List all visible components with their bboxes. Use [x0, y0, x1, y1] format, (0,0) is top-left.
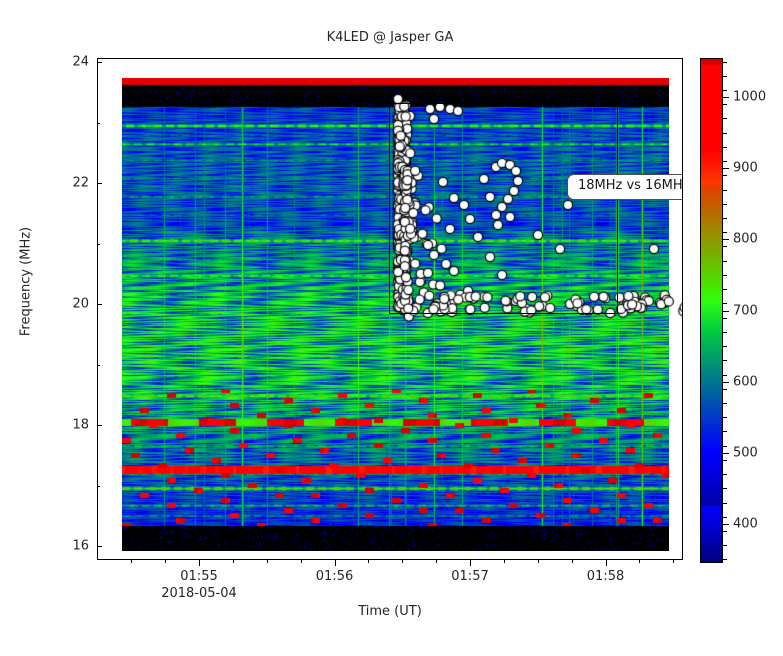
y-tick-label: 20 — [72, 297, 89, 312]
x-tick-minor — [267, 560, 268, 563]
colorbar-tick-minor — [723, 318, 727, 319]
y-tick-minor — [97, 244, 100, 245]
x-tick-minor — [538, 560, 539, 563]
colorbar-tick-major — [723, 97, 729, 98]
y-tick-label: 16 — [72, 539, 89, 554]
colorbar-tick-major — [723, 311, 729, 312]
colorbar-tick-minor — [723, 76, 727, 77]
annotation-label: 18MHz vs 16MHz — [567, 174, 683, 200]
x-tick-minor — [301, 560, 302, 563]
colorbar-tick-minor — [723, 118, 727, 119]
x-axis-ticks — [97, 560, 683, 568]
colorbar-tick-minor — [723, 446, 727, 447]
y-tick-major — [97, 304, 102, 305]
y-tick-major — [97, 183, 102, 184]
colorbar-tick-minor — [723, 147, 727, 148]
colorbar-tick-label: 800 — [733, 232, 758, 247]
y-tick-major — [97, 546, 102, 547]
colorbar-tick-minor — [723, 133, 727, 134]
colorbar-tick-label: 700 — [733, 303, 758, 318]
colorbar-tick-minor — [723, 261, 727, 262]
colorbar-tick-minor — [723, 389, 727, 390]
colorbar-tick-label: 600 — [733, 374, 758, 389]
colorbar-tick-minor — [723, 474, 727, 475]
colorbar-tick-minor — [723, 161, 727, 162]
colorbar-tick-minor — [723, 232, 727, 233]
y-tick-major — [97, 425, 102, 426]
x-tick-label: 01:55 — [180, 569, 217, 584]
y-tick-minor — [97, 365, 100, 366]
figure-canvas: K4LED @ Jasper GA 18MHz vs 16MHz 2422201… — [0, 0, 783, 656]
colorbar-tick-major — [723, 239, 729, 240]
colorbar-gradient — [701, 59, 722, 562]
plot-area[interactable]: 18MHz vs 16MHz — [97, 58, 683, 560]
y-tick-minor — [97, 486, 100, 487]
x-axis-title: Time (UT) — [97, 604, 683, 619]
x-axis-date-label: 2018-05-04 — [161, 586, 237, 601]
y-tick-label: 24 — [72, 55, 89, 70]
x-tick-minor — [165, 560, 166, 563]
x-tick-major — [335, 560, 336, 566]
colorbar-tick-minor — [723, 417, 727, 418]
colorbar-tick-minor — [723, 346, 727, 347]
colorbar-tick-minor — [723, 190, 727, 191]
x-tick-major — [199, 560, 200, 566]
colorbar-tick-minor — [723, 104, 727, 105]
colorbar-tick-minor — [723, 90, 727, 91]
y-tick-label: 18 — [72, 418, 89, 433]
colorbar-tick-minor — [723, 289, 727, 290]
colorbar-tick-minor — [723, 204, 727, 205]
y-tick-minor — [97, 123, 100, 124]
colorbar-tick-minor — [723, 275, 727, 276]
x-tick-major — [470, 560, 471, 566]
colorbar-tick-major — [723, 524, 729, 525]
y-axis-title: Frequency (MHz) — [19, 182, 34, 382]
x-tick-label: 01:56 — [316, 569, 353, 584]
x-tick-minor — [368, 560, 369, 563]
y-tick-label: 22 — [72, 176, 89, 191]
x-tick-minor — [572, 560, 573, 563]
x-tick-minor — [402, 560, 403, 563]
colorbar-tick-major — [723, 453, 729, 454]
colorbar-tick-minor — [723, 218, 727, 219]
colorbar-tick-label: 500 — [733, 445, 758, 460]
colorbar — [700, 58, 723, 563]
colorbar-tick-major — [723, 168, 729, 169]
x-tick-minor — [504, 560, 505, 563]
colorbar-tick-minor — [723, 431, 727, 432]
roi-rectangle — [389, 103, 618, 314]
colorbar-ticks — [723, 58, 731, 563]
chart-title: K4LED @ Jasper GA — [97, 30, 683, 45]
x-tick-label: 01:58 — [587, 569, 624, 584]
x-tick-minor — [673, 560, 674, 563]
x-tick-minor — [233, 560, 234, 563]
colorbar-tick-minor — [723, 303, 727, 304]
colorbar-tick-minor — [723, 460, 727, 461]
colorbar-tick-label: 900 — [733, 161, 758, 176]
y-tick-major — [97, 62, 102, 63]
colorbar-tick-minor — [723, 488, 727, 489]
x-tick-label: 01:57 — [451, 569, 488, 584]
colorbar-tick-minor — [723, 360, 727, 361]
colorbar-tick-minor — [723, 375, 727, 376]
x-tick-major — [606, 560, 607, 566]
colorbar-tick-major — [723, 382, 729, 383]
colorbar-tick-minor — [723, 246, 727, 247]
colorbar-labels: 1000900800700600500400 — [733, 58, 783, 563]
y-axis-labels: 2422201816 — [47, 58, 89, 560]
colorbar-tick-label: 1000 — [733, 90, 766, 105]
colorbar-tick-minor — [723, 503, 727, 504]
colorbar-tick-minor — [723, 332, 727, 333]
colorbar-tick-minor — [723, 403, 727, 404]
colorbar-tick-label: 400 — [733, 516, 758, 531]
colorbar-tick-minor — [723, 559, 727, 560]
colorbar-tick-minor — [723, 62, 727, 63]
x-tick-minor — [436, 560, 437, 563]
y-axis-ticks — [97, 58, 103, 560]
colorbar-tick-minor — [723, 175, 727, 176]
colorbar-tick-minor — [723, 517, 727, 518]
colorbar-tick-minor — [723, 545, 727, 546]
x-tick-minor — [639, 560, 640, 563]
colorbar-tick-minor — [723, 531, 727, 532]
x-tick-minor — [131, 560, 132, 563]
